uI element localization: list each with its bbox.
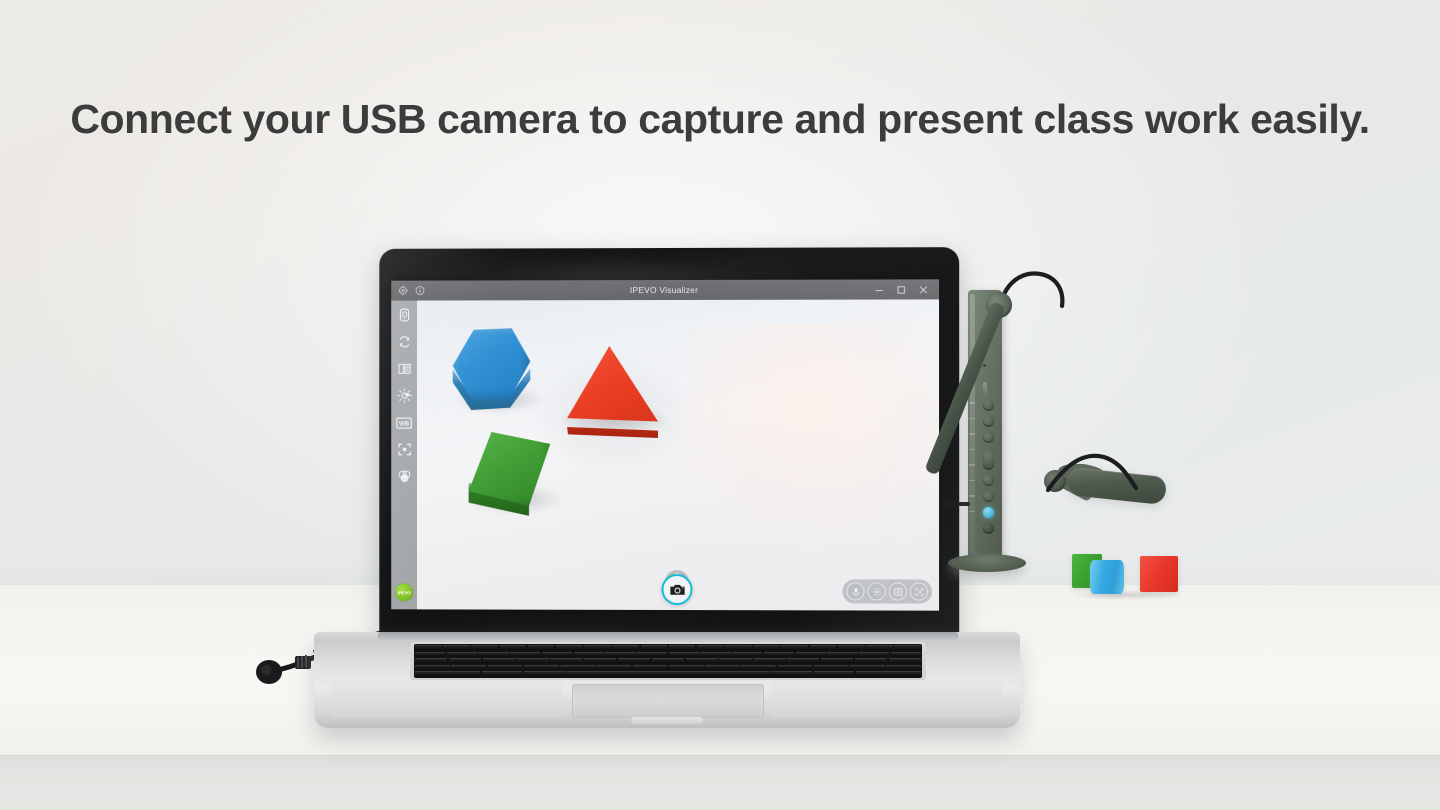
desk-blocks [1068, 546, 1188, 596]
app-sidebar: WB [391, 301, 417, 610]
camera-power-button[interactable] [983, 523, 994, 534]
blue-block [1090, 560, 1124, 594]
camera-button[interactable] [983, 475, 994, 486]
camera-led [983, 364, 986, 367]
palmrest-right [772, 682, 1002, 718]
red-block [1140, 556, 1178, 592]
app-window: IPEVO Visualizer [391, 279, 939, 610]
camera-source-icon[interactable] [396, 307, 413, 324]
preview-highlight [687, 324, 939, 567]
fullscreen-button[interactable] [910, 583, 928, 601]
scene: Connect your USB camera to capture and p… [0, 0, 1440, 810]
camera-button-strip [979, 400, 997, 534]
brightness-icon[interactable] [396, 387, 413, 404]
key-row [415, 658, 921, 664]
camera-zoom-rocker[interactable] [983, 448, 994, 470]
app-title: IPEVO Visualizer [391, 284, 939, 295]
resolution-button[interactable] [868, 582, 886, 600]
camera-dc-plug [946, 498, 972, 510]
desk-front-edge [0, 755, 1440, 810]
layout-icon[interactable] [396, 360, 413, 377]
maximize-button[interactable] [896, 284, 907, 295]
camera-button[interactable] [983, 416, 994, 427]
key-row [415, 671, 921, 677]
white-balance-icon[interactable]: WB [396, 414, 413, 431]
camera-head-cable [1044, 412, 1184, 502]
app-body: WB [391, 299, 939, 610]
laptop-trackpad[interactable] [572, 684, 764, 718]
camera-button[interactable] [983, 432, 994, 443]
camera-preview[interactable] [417, 299, 939, 610]
camera-tick-marks [969, 402, 975, 512]
titlebar-left-icons [391, 286, 425, 296]
laptop-lid: IPEVO Visualizer [379, 247, 959, 639]
camera-button[interactable] [983, 491, 994, 502]
svg-text:WB: WB [399, 420, 410, 427]
camera-base [948, 554, 1026, 572]
camera-power-indicator[interactable] [983, 507, 994, 518]
microphone-button[interactable] [846, 582, 864, 600]
minimize-button[interactable] [874, 284, 885, 295]
ipevo-brand-badge[interactable]: IPEVO [395, 583, 413, 601]
gear-icon[interactable] [398, 286, 408, 296]
app-titlebar: IPEVO Visualizer [391, 279, 939, 300]
camera-button[interactable] [983, 400, 994, 411]
capture-button[interactable] [662, 574, 693, 605]
key-row [415, 665, 921, 671]
key-row [415, 652, 921, 658]
palmrest-left [332, 682, 562, 718]
window-controls [874, 284, 939, 295]
page-headline: Connect your USB camera to capture and p… [0, 96, 1440, 143]
grid-button[interactable] [889, 582, 907, 600]
color-mode-icon[interactable] [396, 468, 413, 485]
key-row [415, 645, 921, 651]
close-button[interactable] [918, 284, 929, 295]
rotate-flip-icon[interactable] [396, 333, 413, 350]
laptop-lid-notch [631, 717, 703, 724]
laptop-base [314, 632, 1020, 728]
focus-icon[interactable] [396, 441, 413, 458]
laptop: IPEVO Visualizer [300, 248, 1020, 748]
control-cluster [842, 579, 932, 603]
laptop-keyboard[interactable] [414, 644, 922, 678]
info-icon[interactable] [415, 286, 425, 296]
camera-slot [983, 382, 987, 395]
laptop-hinge [378, 632, 958, 640]
